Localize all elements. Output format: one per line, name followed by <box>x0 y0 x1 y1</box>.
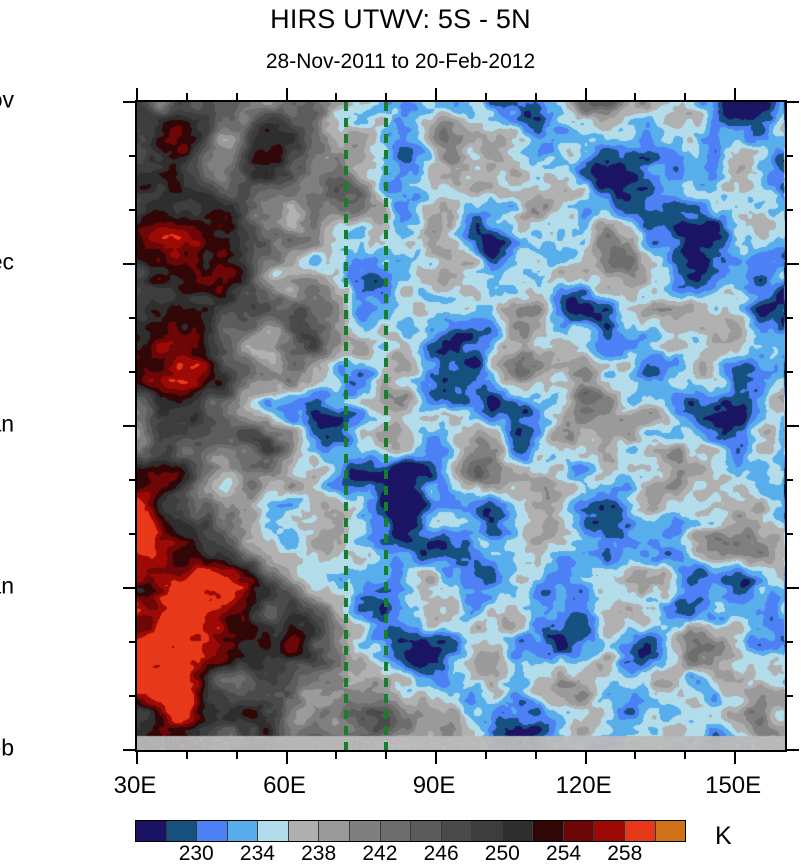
y-axis-right-major-tick <box>785 425 799 427</box>
x-axis-bottom-major-tick <box>734 750 736 764</box>
y-axis-right-major-tick <box>785 263 799 265</box>
y-axis-right-minor-tick <box>785 479 793 481</box>
colorbar-cell <box>350 821 381 841</box>
y-axis-minor-tick <box>129 641 137 643</box>
colorbar-tick-label: 238 <box>301 842 336 866</box>
page-title: HIRS UTWV: 5S - 5N <box>0 4 801 35</box>
y-axis-major-tick <box>123 425 137 427</box>
colorbar-tick-label: 246 <box>424 842 459 866</box>
colorbar-tick-label: 250 <box>485 842 520 866</box>
x-axis-minor-tick <box>385 93 387 102</box>
y-axis-major-tick <box>123 101 137 103</box>
colorbar-units-label: K <box>715 822 732 851</box>
colorbar-cell <box>533 821 564 841</box>
y-axis-major-tick <box>123 263 137 265</box>
y-axis-right-minor-tick <box>785 533 793 535</box>
x-axis-major-tick <box>435 88 437 102</box>
chart-subtitle: 28-Nov-2011 to 20-Feb-2012 <box>0 50 801 74</box>
hovmoller-plot-area <box>135 100 787 752</box>
x-axis-major-tick <box>136 88 138 102</box>
x-axis-bottom-minor-tick <box>485 750 487 759</box>
x-axis-bottom-minor-tick <box>335 750 337 759</box>
y-axis-label: 30-Jan <box>0 573 14 600</box>
x-axis-label: 30E <box>114 772 157 800</box>
y-axis-label: 20-Feb <box>0 735 14 762</box>
colorbar-cell <box>472 821 503 841</box>
colorbar-cell <box>411 821 442 841</box>
x-axis-bottom-minor-tick <box>186 750 188 759</box>
colorbar-cell <box>442 821 473 841</box>
vertical-dashed-marker <box>384 102 388 750</box>
colorbar[interactable] <box>135 820 686 842</box>
x-axis-bottom-major-tick <box>435 750 437 764</box>
x-axis-minor-tick <box>684 93 686 102</box>
y-axis-major-tick <box>123 749 137 751</box>
colorbar-cell <box>258 821 289 841</box>
y-axis-minor-tick <box>129 209 137 211</box>
x-axis-minor-tick <box>634 93 636 102</box>
y-axis-right-minor-tick <box>785 155 793 157</box>
y-axis-right-minor-tick <box>785 317 793 319</box>
y-axis-right-major-tick <box>785 749 799 751</box>
colorbar-tick-label: 242 <box>362 842 397 866</box>
y-axis-minor-tick <box>129 479 137 481</box>
y-axis-major-tick <box>123 587 137 589</box>
colorbar-cell <box>564 821 595 841</box>
y-axis-minor-tick <box>129 371 137 373</box>
x-axis-major-tick <box>286 88 288 102</box>
x-axis-minor-tick <box>535 93 537 102</box>
vertical-dashed-marker <box>344 102 348 750</box>
y-axis-right-major-tick <box>785 101 799 103</box>
x-axis-label: 120E <box>556 772 612 800</box>
colorbar-cell <box>289 821 320 841</box>
colorbar-cell <box>503 821 534 841</box>
colorbar-cell <box>136 821 167 841</box>
x-axis-label: 150E <box>705 772 761 800</box>
y-axis-minor-tick <box>129 155 137 157</box>
x-axis-label: 60E <box>263 772 306 800</box>
x-axis-bottom-major-tick <box>136 750 138 764</box>
x-axis-major-tick <box>734 88 736 102</box>
x-axis-minor-tick <box>485 93 487 102</box>
colorbar-cell <box>381 821 412 841</box>
x-axis-minor-tick <box>335 93 337 102</box>
x-axis-minor-tick <box>236 93 238 102</box>
y-axis-right-major-tick <box>785 587 799 589</box>
x-axis-label: 90E <box>413 772 456 800</box>
y-axis-right-minor-tick <box>785 641 793 643</box>
y-axis-minor-tick <box>129 695 137 697</box>
x-axis-bottom-minor-tick <box>385 750 387 759</box>
y-axis-label: 28-Nov <box>0 87 14 114</box>
colorbar-cell <box>228 821 259 841</box>
x-axis-bottom-major-tick <box>286 750 288 764</box>
colorbar-cell <box>319 821 350 841</box>
x-axis-bottom-minor-tick <box>236 750 238 759</box>
x-axis-bottom-minor-tick <box>535 750 537 759</box>
colorbar-cell <box>594 821 625 841</box>
x-axis-bottom-minor-tick <box>634 750 636 759</box>
colorbar-tick-label: 254 <box>546 842 581 866</box>
y-axis-right-minor-tick <box>785 209 793 211</box>
x-axis-bottom-minor-tick <box>684 750 686 759</box>
y-axis-right-minor-tick <box>785 695 793 697</box>
colorbar-tick-label: 234 <box>240 842 275 866</box>
colorbar-cell <box>656 821 686 841</box>
colorbar-tick-label: 258 <box>607 842 642 866</box>
colorbar-tick-label: 230 <box>179 842 214 866</box>
y-axis-label: 19-Dec <box>0 249 14 276</box>
colorbar-cell <box>625 821 656 841</box>
y-axis-right-minor-tick <box>785 371 793 373</box>
x-axis-minor-tick <box>186 93 188 102</box>
y-axis-minor-tick <box>129 533 137 535</box>
x-axis-bottom-major-tick <box>585 750 587 764</box>
y-axis-label: 9-Jan <box>0 411 14 438</box>
colorbar-cell <box>197 821 228 841</box>
y-axis-minor-tick <box>129 317 137 319</box>
contour-field-canvas <box>137 102 785 750</box>
colorbar-cell <box>167 821 198 841</box>
x-axis-major-tick <box>585 88 587 102</box>
